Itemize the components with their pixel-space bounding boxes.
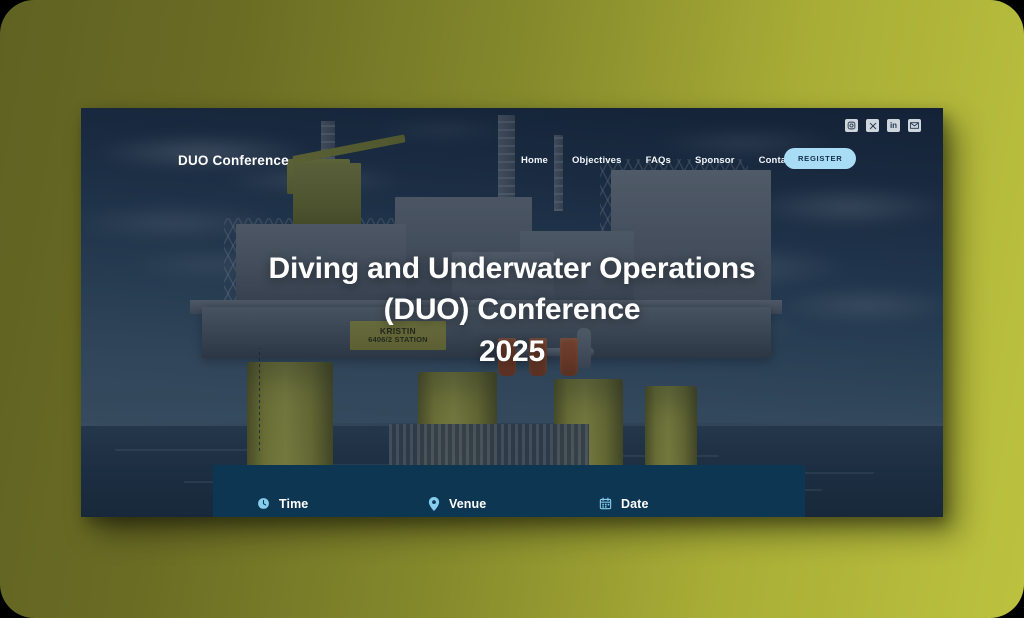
nav-link-faqs[interactable]: FAQs xyxy=(646,155,671,166)
instagram-icon[interactable] xyxy=(845,119,858,132)
x-twitter-icon[interactable] xyxy=(866,119,879,132)
hero-line-1: Diving and Underwater Operations xyxy=(81,248,943,289)
nav-link-objectives[interactable]: Objectives xyxy=(572,155,622,166)
nav-link-sponsor[interactable]: Sponsor xyxy=(695,155,735,166)
email-icon[interactable] xyxy=(908,119,921,132)
clock-icon xyxy=(257,497,270,510)
info-item-date[interactable]: Date xyxy=(599,497,649,511)
event-info-bar: Time Venue xyxy=(213,465,805,517)
hero-line-2: (DUO) Conference xyxy=(81,289,943,330)
website-hero-panel: KRISTIN 6406/2 STATION xyxy=(81,108,943,517)
hero-heading: Diving and Underwater Operations (DUO) C… xyxy=(81,248,943,372)
page-background: KRISTIN 6406/2 STATION xyxy=(0,0,1024,618)
nav-link-home[interactable]: Home xyxy=(521,155,548,166)
info-item-time[interactable]: Time xyxy=(257,497,308,511)
register-button[interactable]: REGISTER xyxy=(784,148,856,169)
info-label-date: Date xyxy=(621,497,649,511)
info-label-time: Time xyxy=(279,497,308,511)
info-item-venue[interactable]: Venue xyxy=(428,497,486,511)
linkedin-icon[interactable]: in xyxy=(887,119,900,132)
location-pin-icon xyxy=(428,497,440,511)
site-navbar: DUO Conference Home Objectives FAQs Spon… xyxy=(81,144,943,176)
hero-line-3: 2025 xyxy=(81,331,943,372)
calendar-icon xyxy=(599,497,612,510)
nav-links: Home Objectives FAQs Sponsor Contact xyxy=(521,144,795,176)
info-label-venue: Venue xyxy=(449,497,486,511)
brand-logo[interactable]: DUO Conference xyxy=(178,144,289,176)
social-links: in xyxy=(845,119,921,132)
